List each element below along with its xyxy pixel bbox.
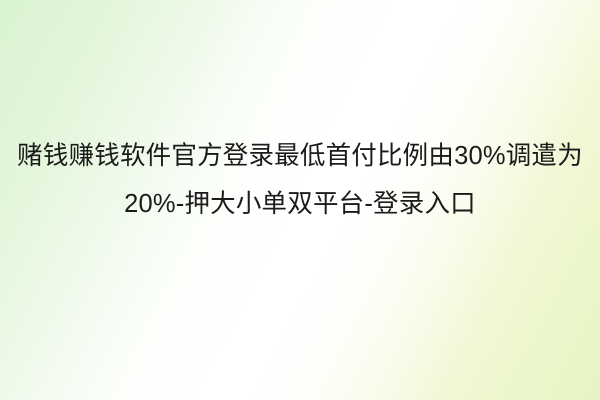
banner-title-line-2: 20%-押大小单双平台-登录入口 xyxy=(6,180,594,228)
promo-banner: 赌钱赚钱软件官方登录最低首付比例由30%调遣为 20%-押大小单双平台-登录入口 xyxy=(0,0,600,400)
banner-title-line-1: 赌钱赚钱软件官方登录最低首付比例由30%调遣为 xyxy=(6,132,594,180)
banner-title: 赌钱赚钱软件官方登录最低首付比例由30%调遣为 20%-押大小单双平台-登录入口 xyxy=(0,132,600,228)
